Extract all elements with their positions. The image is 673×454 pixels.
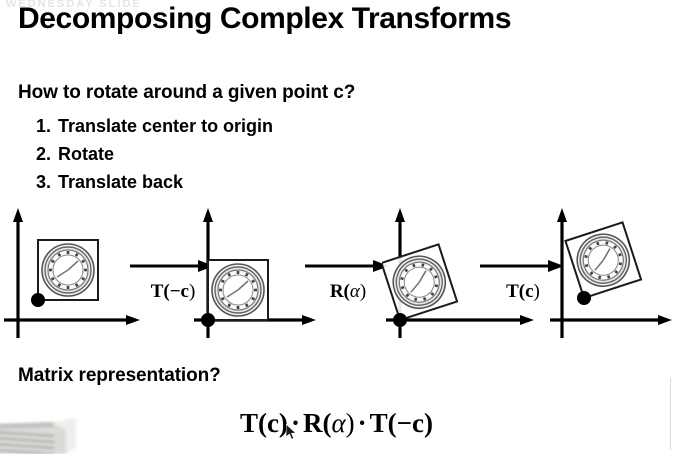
- object-group: [382, 244, 457, 320]
- arrow-caption-arg: −c: [170, 281, 189, 302]
- clock-icon: [212, 264, 264, 316]
- list-item-number: 3.: [36, 168, 58, 196]
- arrow-caption: R(α): [303, 281, 393, 303]
- object-group: [38, 240, 98, 300]
- list-item-number: 2.: [36, 140, 58, 168]
- formula-term-tc: T(c): [240, 408, 288, 438]
- reference-point-marker: [577, 291, 591, 305]
- reference-point-marker: [31, 293, 45, 307]
- arrow-caption-arg: α: [350, 281, 360, 302]
- list-item-label: Translate back: [58, 172, 183, 192]
- list-item: 2.Rotate: [36, 140, 273, 168]
- object-group: [208, 260, 268, 320]
- x-axis-arrowhead: [302, 315, 316, 325]
- clock-icon: [42, 244, 94, 296]
- arrow-caption-close: ): [360, 281, 366, 302]
- list-item-label: Rotate: [58, 144, 114, 164]
- transform-sequence-diagram: T(−c): [0, 200, 673, 340]
- formula-term-t-neg-c: T(−c): [370, 408, 433, 438]
- list-item: 3.Translate back: [36, 168, 273, 196]
- page-title: Decomposing Complex Transforms: [18, 0, 511, 38]
- formula-term-r-close: ): [346, 408, 355, 438]
- arrow-caption-fn: R(: [330, 281, 350, 302]
- arrow-caption-fn: T(: [151, 281, 170, 302]
- list-item-number: 1.: [36, 112, 58, 140]
- diagram-panel-translated-back: [548, 200, 673, 340]
- object-group: [565, 222, 641, 298]
- arrow-caption-close: ): [534, 281, 540, 302]
- steps-list: 1.Translate center to origin 2.Rotate 3.…: [36, 112, 273, 196]
- panel-translated-back-svg: [548, 200, 673, 340]
- formula-term-r-open: R(: [303, 408, 332, 438]
- y-axis-arrowhead: [395, 208, 405, 222]
- formula-operator-dot: ·: [355, 408, 370, 438]
- list-item-label: Translate center to origin: [58, 116, 273, 136]
- y-axis-arrowhead: [557, 208, 567, 222]
- right-edge-seam: [670, 378, 671, 450]
- question-heading: How to rotate around a given point c?: [18, 82, 355, 104]
- reference-point-marker: [393, 313, 407, 327]
- arrow-rotate-alpha: R(α): [303, 258, 393, 310]
- y-axis-arrowhead: [203, 208, 213, 222]
- y-axis-arrowhead: [13, 208, 23, 222]
- matrix-formula: T(c)·R(α)·T(−c): [0, 408, 673, 439]
- x-axis-arrowhead: [658, 315, 672, 325]
- arrow-caption-arg: c: [525, 281, 533, 302]
- x-axis-arrowhead: [126, 315, 140, 325]
- list-item: 1.Translate center to origin: [36, 112, 273, 140]
- formula-term-alpha: α: [331, 408, 345, 438]
- x-axis-arrowhead: [520, 315, 534, 325]
- matrix-representation-heading: Matrix representation?: [18, 365, 221, 387]
- arrow-shaft-icon: [303, 258, 393, 274]
- arrow-caption-fn: T(: [506, 281, 525, 302]
- formula-operator-dot: ·: [288, 408, 303, 438]
- reference-point-marker: [201, 313, 215, 327]
